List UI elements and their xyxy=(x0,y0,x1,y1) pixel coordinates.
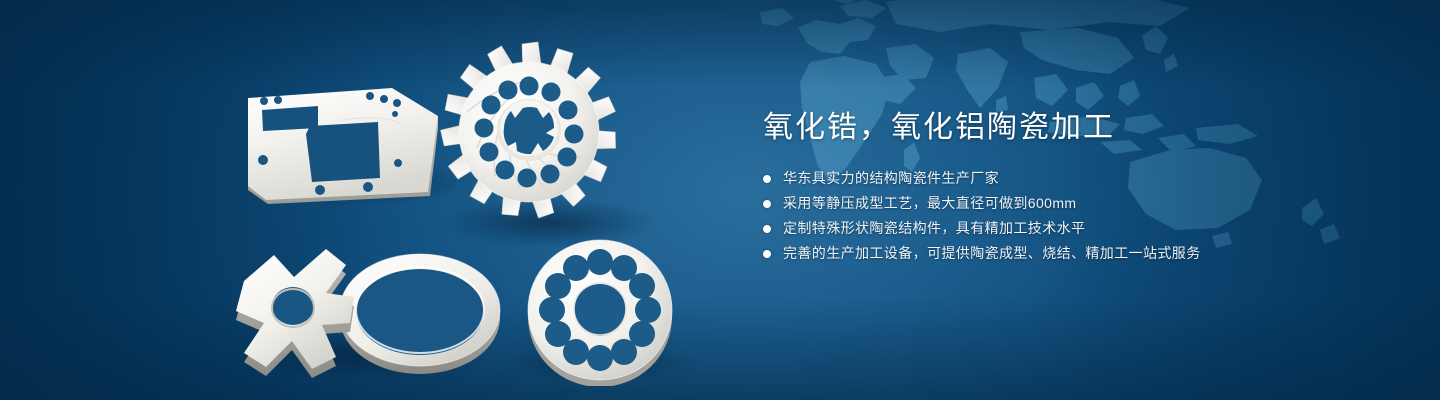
bullet-dot-icon xyxy=(763,225,771,233)
promo-banner: 氧化锆，氧化铝陶瓷加工 华东具实力的结构陶瓷件生产厂家 采用等静压成型工艺，最大… xyxy=(0,0,1440,400)
list-item: 完善的生产加工设备，可提供陶瓷成型、烧结、精加工一站式服务 xyxy=(763,241,1383,266)
list-item: 采用等静压成型工艺，最大直径可做到600mm xyxy=(763,191,1383,216)
bullet-dot-icon xyxy=(763,250,771,258)
list-item-label: 定制特殊形状陶瓷结构件，具有精加工技术水平 xyxy=(783,216,1085,241)
list-item-label: 华东具实力的结构陶瓷件生产厂家 xyxy=(783,166,999,191)
list-item: 华东具实力的结构陶瓷件生产厂家 xyxy=(763,166,1383,191)
banner-copy: 氧化锆，氧化铝陶瓷加工 华东具实力的结构陶瓷件生产厂家 采用等静压成型工艺，最大… xyxy=(763,108,1383,266)
list-item: 定制特殊形状陶瓷结构件，具有精加工技术水平 xyxy=(763,216,1383,241)
ceramic-hole-disc xyxy=(518,236,683,386)
bullet-dot-icon xyxy=(763,200,771,208)
bullet-dot-icon xyxy=(763,175,771,183)
feature-list: 华东具实力的结构陶瓷件生产厂家 采用等静压成型工艺，最大直径可做到600mm 定… xyxy=(763,166,1383,266)
ceramic-cross xyxy=(230,245,430,385)
page-title: 氧化锆，氧化铝陶瓷加工 xyxy=(763,108,1383,148)
list-item-label: 采用等静压成型工艺，最大直径可做到600mm xyxy=(783,191,1076,216)
ceramic-plate xyxy=(242,82,442,212)
product-photo-group xyxy=(230,40,700,385)
list-item-label: 完善的生产加工设备，可提供陶瓷成型、烧结、精加工一站式服务 xyxy=(783,241,1201,266)
ceramic-impeller xyxy=(434,40,624,220)
